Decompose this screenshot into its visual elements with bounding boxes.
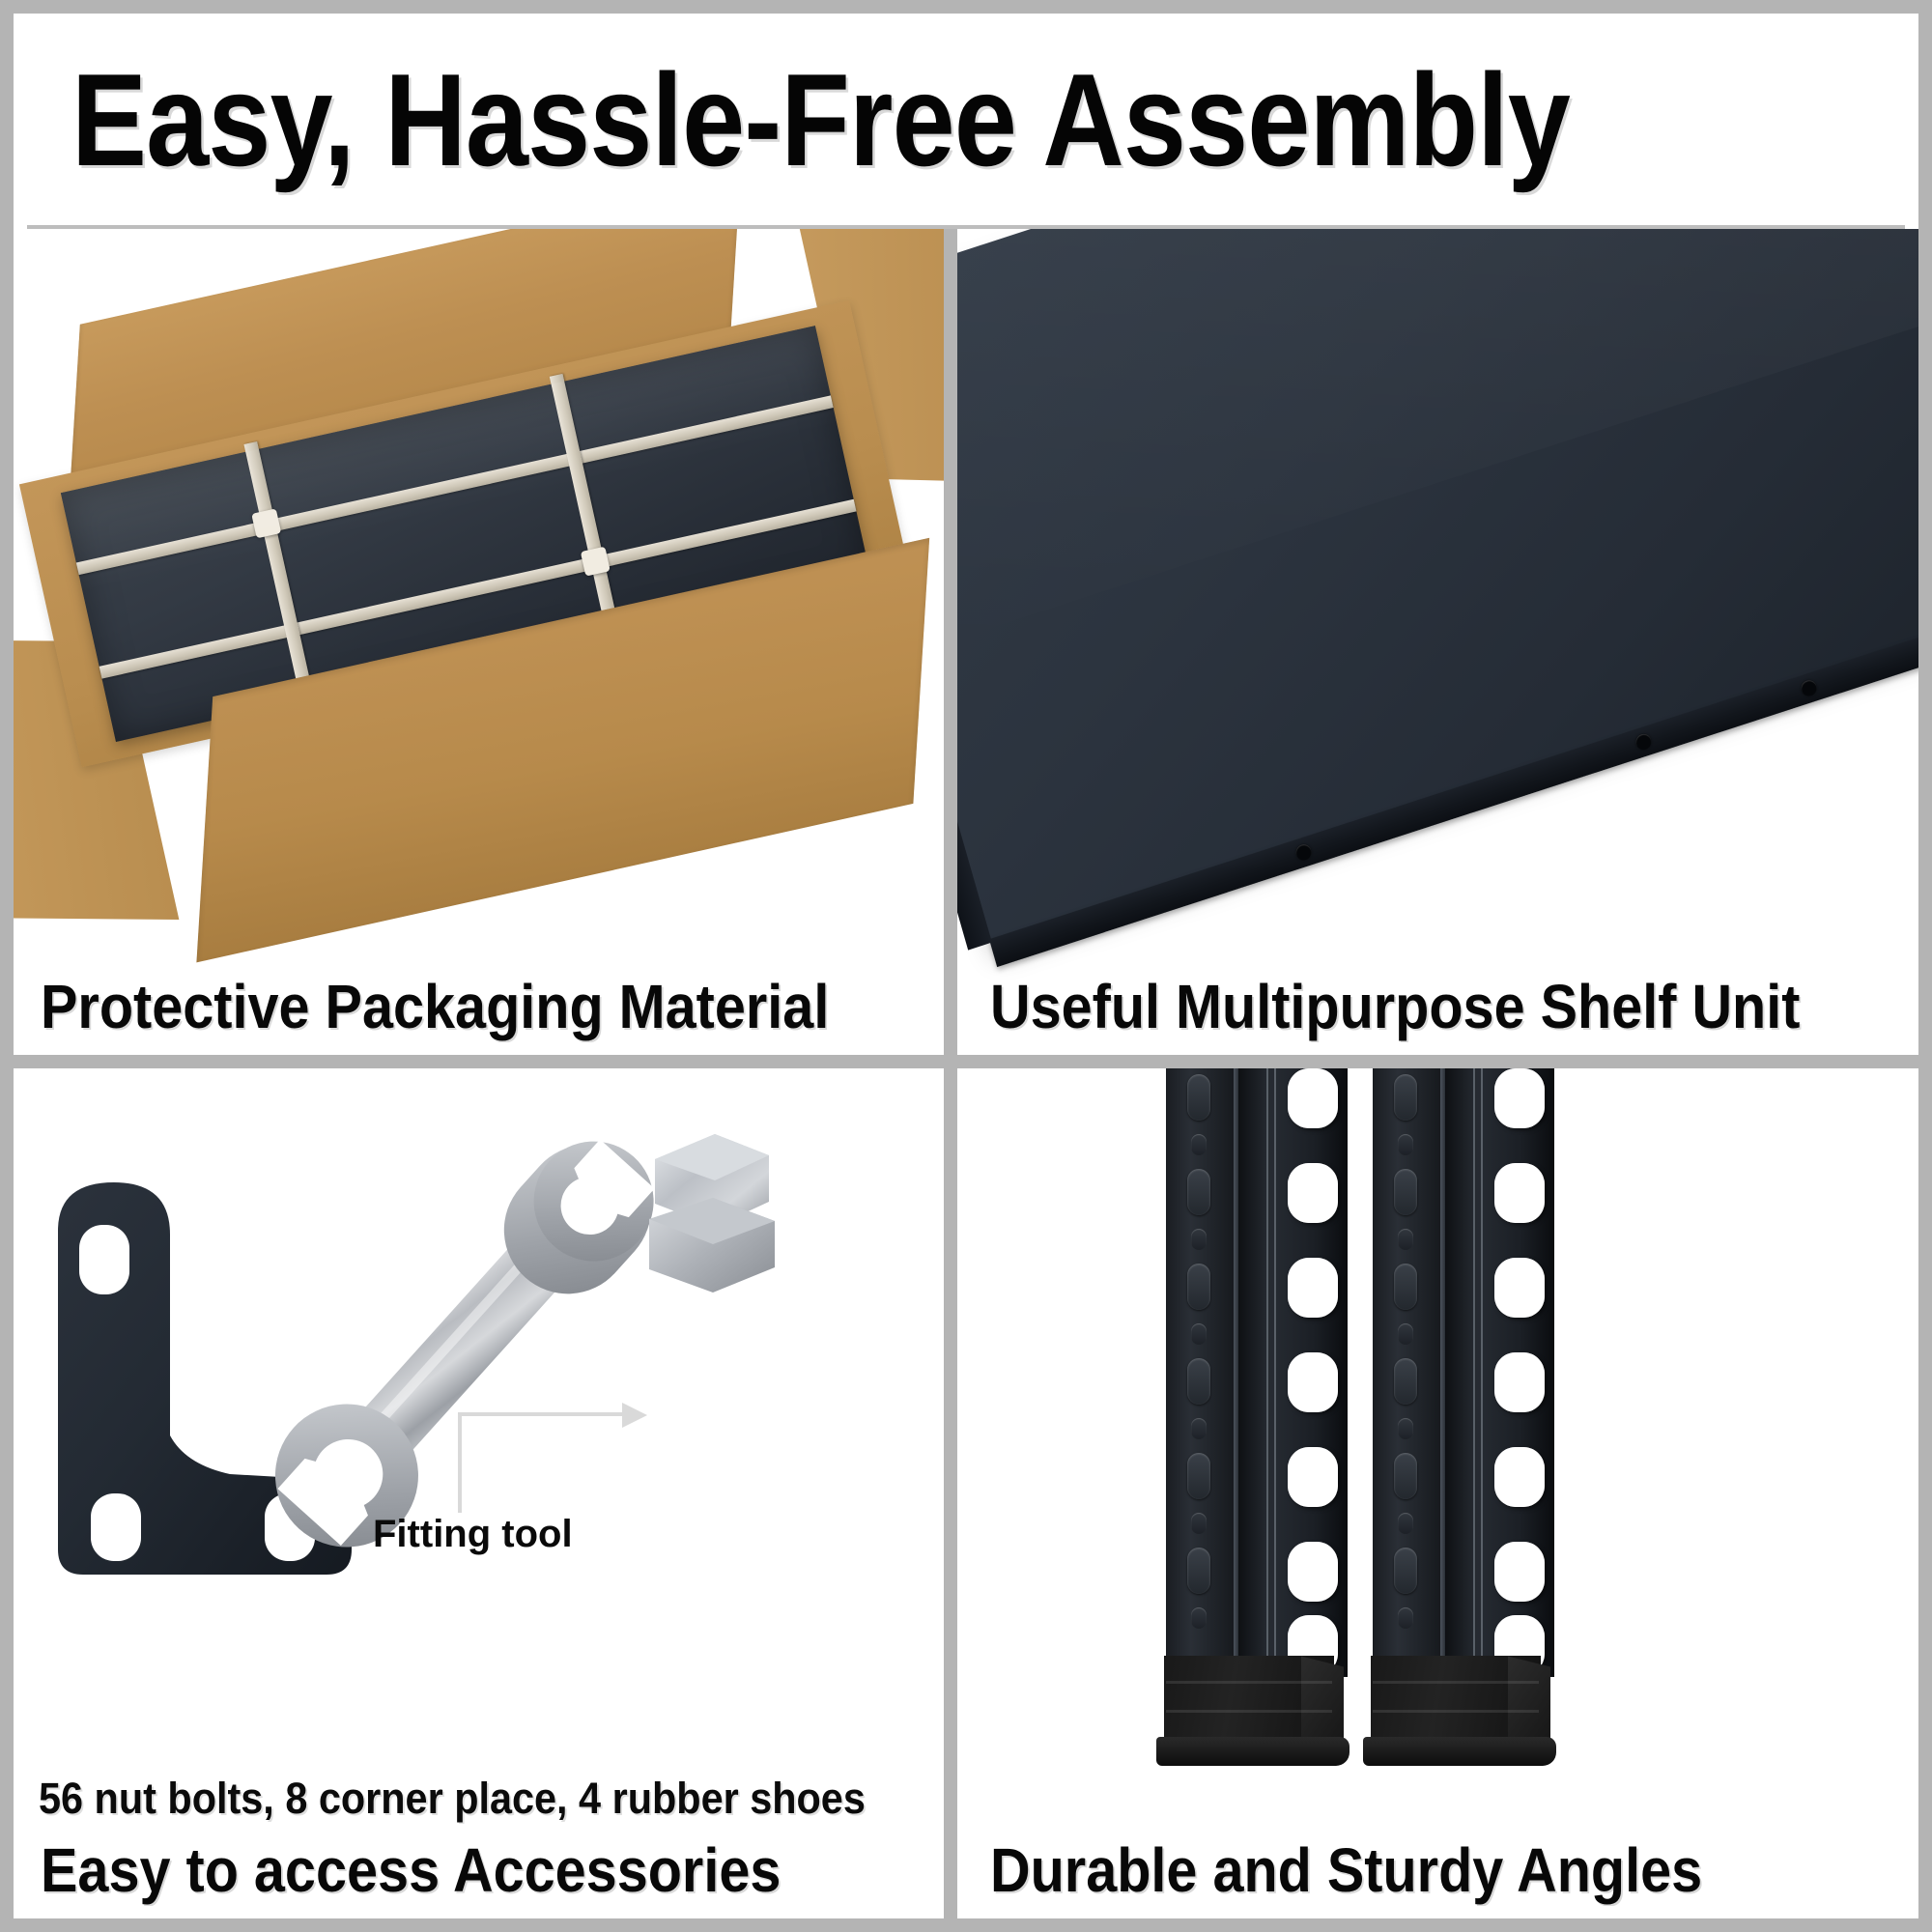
- page-title: Easy, Hassle-Free Assembly: [71, 54, 1570, 185]
- panel-accessories: Fitting tool 56 nut bolts, 8 corner plac…: [14, 1068, 944, 1918]
- horizontal-divider: [14, 1055, 1918, 1068]
- infographic-page: Easy, Hassle-Free Assembly: [0, 0, 1932, 1932]
- infographic-canvas: Easy, Hassle-Free Assembly: [14, 14, 1918, 1918]
- panel-protective-packaging: Protective Packaging Material: [14, 229, 944, 1055]
- angle-post-icon: [957, 1068, 1918, 1783]
- panel-subcaption: 56 nut bolts, 8 corner place, 4 rubber s…: [39, 1776, 866, 1820]
- shelf-board-icon: [957, 229, 1918, 1002]
- title-band: Easy, Hassle-Free Assembly: [14, 14, 1918, 225]
- panel-caption: Durable and Sturdy Angles: [990, 1839, 1702, 1901]
- panel-multipurpose-shelf: Useful Multipurpose Shelf Unit: [957, 229, 1918, 1055]
- panel-caption: Easy to access Accessories: [41, 1839, 781, 1901]
- rubber-shoe-icon: [1156, 1656, 1355, 1768]
- cardboard-box-icon: [14, 229, 944, 992]
- panel-caption: Protective Packaging Material: [41, 976, 829, 1037]
- rubber-shoe-icon: [1363, 1656, 1562, 1768]
- panel-grid: Protective Packaging Material Useful M: [14, 229, 1918, 1918]
- vertical-divider: [944, 229, 957, 1918]
- panel-caption: Useful Multipurpose Shelf Unit: [990, 976, 1800, 1037]
- accessories-icon: Fitting tool: [14, 1068, 944, 1687]
- panel-angles: Durable and Sturdy Angles: [957, 1068, 1918, 1918]
- hex-bolt-nut-icon: [622, 1126, 806, 1320]
